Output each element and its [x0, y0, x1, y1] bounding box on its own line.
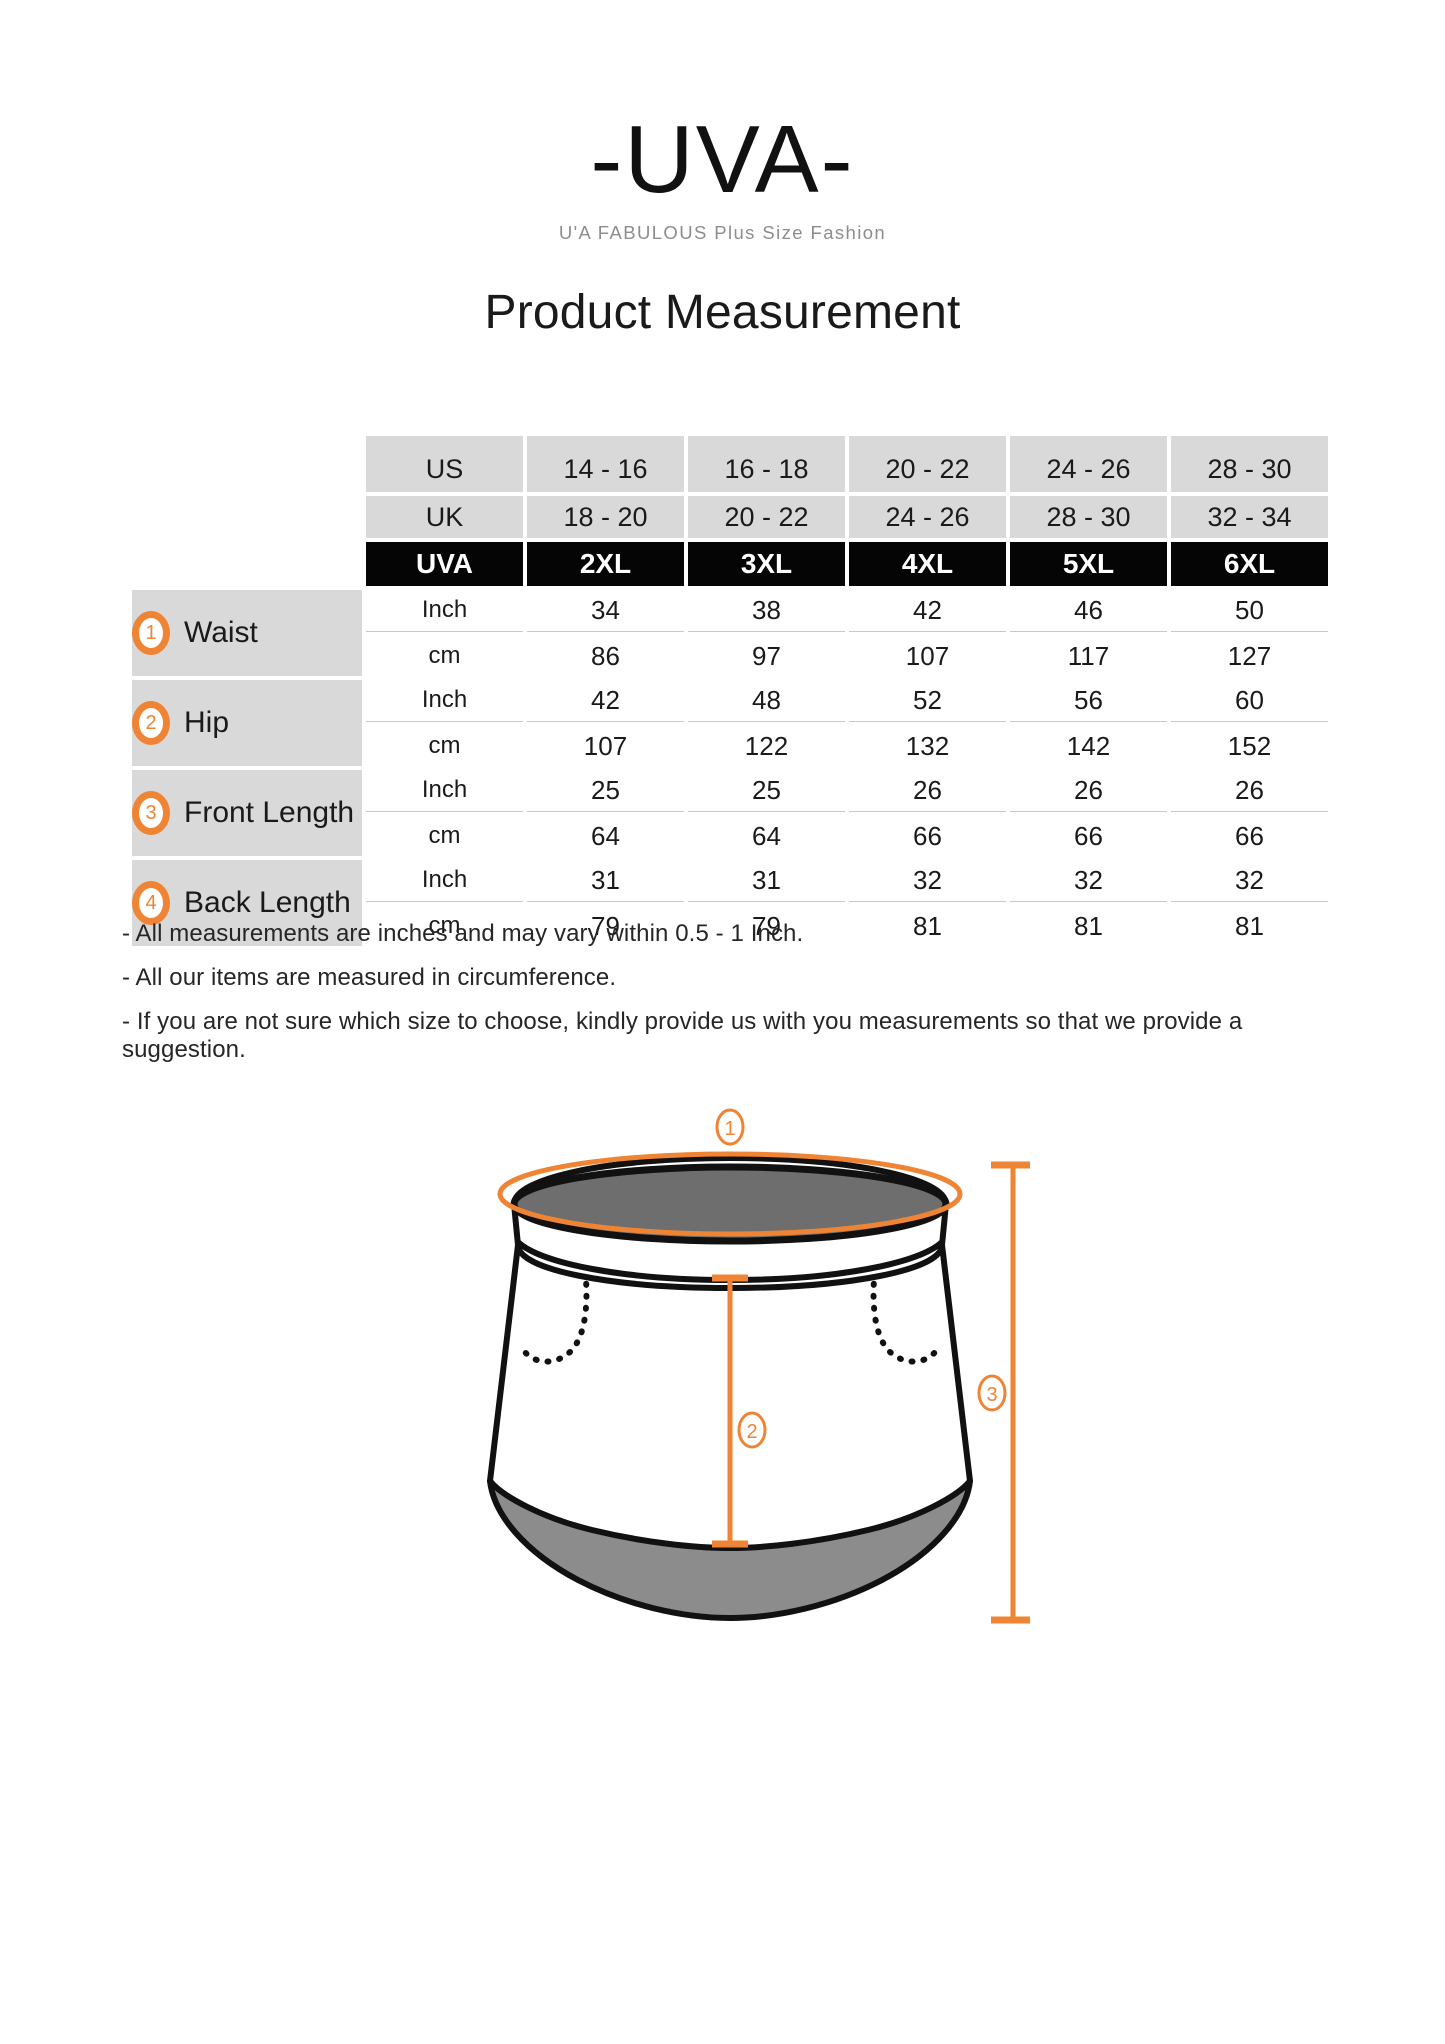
unit-cm-waist: cm — [366, 636, 523, 677]
waist-cm-6xl: 127 — [1171, 636, 1328, 677]
hip-cm-5xl: 142 — [1010, 726, 1167, 767]
svg-text:1: 1 — [724, 1118, 735, 1140]
row-label-text-front-length: Front Length — [184, 796, 354, 830]
region-label-uk: UK — [366, 496, 523, 538]
unit-cm-hip: cm — [366, 726, 523, 767]
unit-inch-hip: Inch — [366, 680, 523, 722]
hip-inch-4xl: 52 — [849, 680, 1006, 722]
region-us-4xl: 20 - 22 — [849, 436, 1006, 492]
marker-1-waist: 1 — [717, 1110, 743, 1144]
table-row-back-length-inch: 4 Back Length Inch 31 31 32 32 32 — [132, 860, 1328, 902]
size-3xl: 3XL — [688, 542, 845, 586]
region-uk-5xl: 28 - 30 — [1010, 496, 1167, 538]
region-us-5xl: 24 - 26 — [1010, 436, 1167, 492]
front-length-cm-3xl: 64 — [688, 816, 845, 857]
unit-inch-front-length: Inch — [366, 770, 523, 812]
front-length-cm-6xl: 66 — [1171, 816, 1328, 857]
badge-4-icon: 4 — [132, 881, 170, 925]
back-length-inch-4xl: 32 — [849, 860, 1006, 902]
hip-inch-6xl: 60 — [1171, 680, 1328, 722]
badge-3-icon: 3 — [132, 791, 170, 835]
table-row-hip-inch: 2 Hip Inch 42 48 52 56 60 — [132, 680, 1328, 722]
svg-text:3: 3 — [986, 1384, 997, 1406]
brand-block: -UVA- U'A FABULOUS Plus Size Fashion — [0, 112, 1445, 244]
table-row-uk: UK 18 - 20 20 - 22 24 - 26 28 - 30 32 - … — [132, 496, 1328, 538]
front-length-inch-6xl: 26 — [1171, 770, 1328, 812]
front-length-inch-2xl: 25 — [527, 770, 684, 812]
badge-4-number: 4 — [139, 888, 163, 918]
note-line-1: - All measurements are inches and may va… — [122, 920, 1372, 948]
badge-1-icon: 1 — [132, 611, 170, 655]
unit-inch-back-length: Inch — [366, 860, 523, 902]
hip-inch-2xl: 42 — [527, 680, 684, 722]
badge-2-number: 2 — [139, 708, 163, 738]
waist-inch-6xl: 50 — [1171, 590, 1328, 632]
region-uk-3xl: 20 - 22 — [688, 496, 845, 538]
back-length-inch-6xl: 32 — [1171, 860, 1328, 902]
waist-inch-2xl: 34 — [527, 590, 684, 632]
brand-logo: -UVA- — [0, 112, 1445, 208]
front-length-cm-2xl: 64 — [527, 816, 684, 857]
table-spacer — [132, 496, 362, 538]
badge-1-number: 1 — [139, 618, 163, 648]
waist-cm-3xl: 97 — [688, 636, 845, 677]
unit-cm-front-length: cm — [366, 816, 523, 857]
table-corner-spacer — [132, 436, 362, 492]
size-6xl: 6XL — [1171, 542, 1328, 586]
region-us-3xl: 16 - 18 — [688, 436, 845, 492]
region-us-2xl: 14 - 16 — [527, 436, 684, 492]
hip-cm-2xl: 107 — [527, 726, 684, 767]
waist-opening — [514, 1167, 946, 1241]
row-label-waist: 1 Waist — [132, 590, 362, 676]
table-row-waist-inch: 1 Waist Inch 34 38 42 46 50 — [132, 590, 1328, 632]
region-us-6xl: 28 - 30 — [1171, 436, 1328, 492]
hip-inch-3xl: 48 — [688, 680, 845, 722]
row-label-hip: 2 Hip — [132, 680, 362, 766]
badge-3-number: 3 — [139, 798, 163, 828]
region-uk-2xl: 18 - 20 — [527, 496, 684, 538]
front-length-cm-5xl: 66 — [1010, 816, 1167, 857]
badge-2-icon: 2 — [132, 701, 170, 745]
row-label-text-waist: Waist — [184, 616, 258, 650]
size-2xl: 2XL — [527, 542, 684, 586]
waist-cm-5xl: 117 — [1010, 636, 1167, 677]
table-spacer — [132, 542, 362, 586]
waist-cm-2xl: 86 — [527, 636, 684, 677]
region-uk-6xl: 32 - 34 — [1171, 496, 1328, 538]
hip-cm-4xl: 132 — [849, 726, 1006, 767]
note-line-3: - If you are not sure which size to choo… — [122, 1008, 1372, 1064]
back-length-inch-2xl: 31 — [527, 860, 684, 902]
front-length-inch-5xl: 26 — [1010, 770, 1167, 812]
back-length-inch-5xl: 32 — [1010, 860, 1167, 902]
waist-inch-4xl: 42 — [849, 590, 1006, 632]
hip-inch-5xl: 56 — [1010, 680, 1167, 722]
size-chart-table: US 14 - 16 16 - 18 20 - 22 24 - 26 28 - … — [128, 432, 1303, 950]
page-title: Product Measurement — [0, 285, 1445, 340]
size-5xl: 5XL — [1010, 542, 1167, 586]
front-length-inch-4xl: 26 — [849, 770, 1006, 812]
front-length-inch-3xl: 25 — [688, 770, 845, 812]
table-row-uva-sizes: UVA 2XL 3XL 4XL 5XL 6XL — [132, 542, 1328, 586]
note-line-2: - All our items are measured in circumfe… — [122, 964, 1372, 992]
skirt-measurement-diagram: 1 2 3 — [430, 1100, 1030, 1660]
unit-inch-waist: Inch — [366, 590, 523, 632]
table-row-front-length-inch: 3 Front Length Inch 25 25 26 26 26 — [132, 770, 1328, 812]
region-uk-4xl: 24 - 26 — [849, 496, 1006, 538]
back-length-inch-3xl: 31 — [688, 860, 845, 902]
waist-inch-3xl: 38 — [688, 590, 845, 632]
size-4xl: 4XL — [849, 542, 1006, 586]
row-label-text-back-length: Back Length — [184, 886, 351, 920]
row-label-front-length: 3 Front Length — [132, 770, 362, 856]
row-label-text-hip: Hip — [184, 706, 229, 740]
region-label-us: US — [366, 436, 523, 492]
size-label-uva: UVA — [366, 542, 523, 586]
hip-cm-6xl: 152 — [1171, 726, 1328, 767]
notes-block: - All measurements are inches and may va… — [122, 920, 1372, 1080]
front-length-cm-4xl: 66 — [849, 816, 1006, 857]
marker-3-back-length: 3 — [979, 1376, 1005, 1410]
waist-inch-5xl: 46 — [1010, 590, 1167, 632]
svg-text:2: 2 — [746, 1421, 757, 1443]
waist-cm-4xl: 107 — [849, 636, 1006, 677]
hip-cm-3xl: 122 — [688, 726, 845, 767]
brand-tagline: U'A FABULOUS Plus Size Fashion — [0, 222, 1445, 244]
table-row-us: US 14 - 16 16 - 18 20 - 22 24 - 26 28 - … — [132, 436, 1328, 492]
